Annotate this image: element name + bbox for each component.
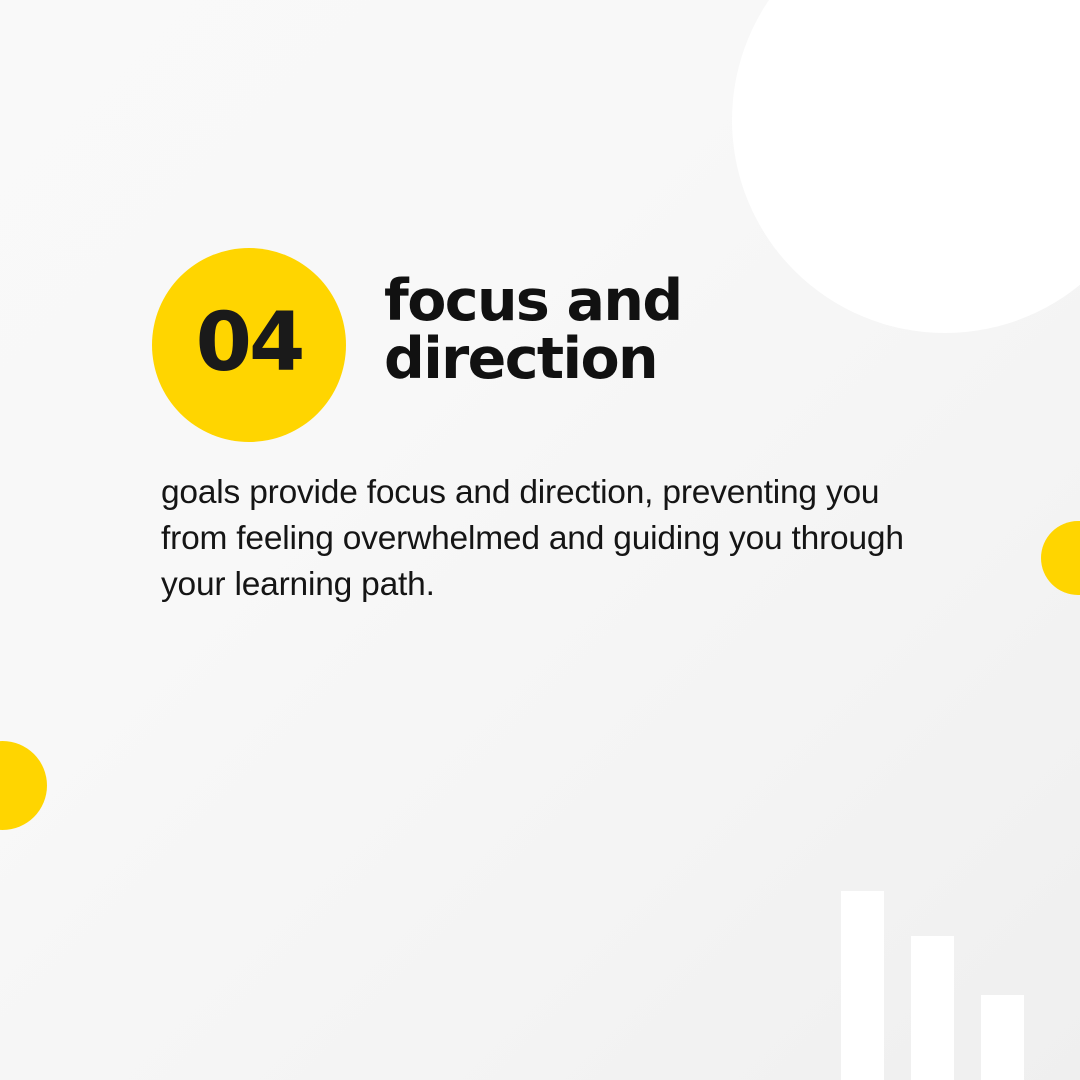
card-body-text: goals provide focus and direction, preve… [161,470,951,608]
step-number-badge: 04 [152,248,346,442]
page-title: focus and direction [384,272,682,388]
step-number-label: 04 [196,303,303,384]
card-content: 04 focus and direction goals provide foc… [0,0,1080,1080]
card-header: 04 focus and direction [152,248,682,442]
slide-canvas: 04 focus and direction goals provide foc… [0,0,1080,1080]
